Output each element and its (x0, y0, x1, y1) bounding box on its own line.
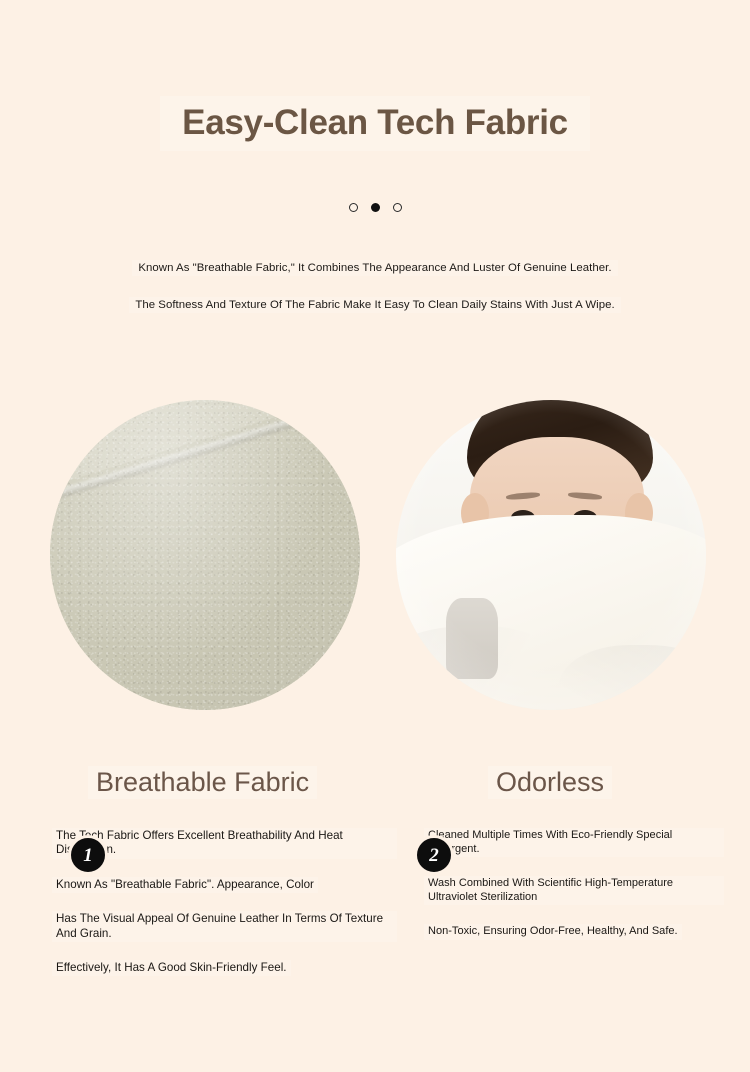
feature-image-row: 1 2 (0, 400, 750, 710)
baby-photo-vignette (396, 400, 706, 710)
feature-heading-odorless: Odorless (488, 766, 612, 799)
intro-line-2: The Softness And Texture Of The Fabric M… (129, 297, 620, 313)
feature-body-column-right: Cleaned Multiple Times With Eco-Friendly… (424, 828, 724, 959)
feature-paragraph: Wash Combined With Scientific High-Tempe… (424, 876, 724, 905)
fabric-sheen-highlight (50, 400, 360, 710)
feature-paragraph: Effectively, It Has A Good Skin-Friendly… (52, 960, 291, 976)
feature-heading-breathable-fabric: Breathable Fabric (88, 766, 317, 799)
fabric-swatch-photo (50, 400, 360, 710)
carousel-dot-2[interactable] (371, 203, 380, 212)
feature-badge-1: 1 (68, 835, 108, 875)
carousel-dots[interactable] (0, 203, 750, 212)
feature-paragraph: Cleaned Multiple Times With Eco-Friendly… (424, 828, 724, 857)
feature-paragraph: Non-Toxic, Ensuring Odor-Free, Healthy, … (424, 924, 682, 940)
feature-paragraph: Known As "Breathable Fabric". Appearance… (52, 877, 318, 893)
feature-badge-2: 2 (414, 835, 454, 875)
page-title-container: Easy-Clean Tech Fabric (0, 96, 750, 151)
page-title-band: Easy-Clean Tech Fabric (160, 96, 590, 151)
feature-paragraph: Has The Visual Appeal Of Genuine Leather… (52, 911, 397, 942)
intro-line-1: Known As "Breathable Fabric," It Combine… (132, 260, 617, 276)
intro-text-block: Known As "Breathable Fabric," It Combine… (0, 260, 750, 313)
baby-photo (396, 400, 706, 710)
baby-photo-content (396, 400, 706, 710)
fabric-photo-content (50, 400, 360, 710)
product-feature-page: Easy-Clean Tech Fabric Known As "Breatha… (0, 0, 750, 1072)
carousel-dot-3[interactable] (393, 203, 402, 212)
carousel-dot-1[interactable] (349, 203, 358, 212)
page-title: Easy-Clean Tech Fabric (182, 103, 568, 142)
